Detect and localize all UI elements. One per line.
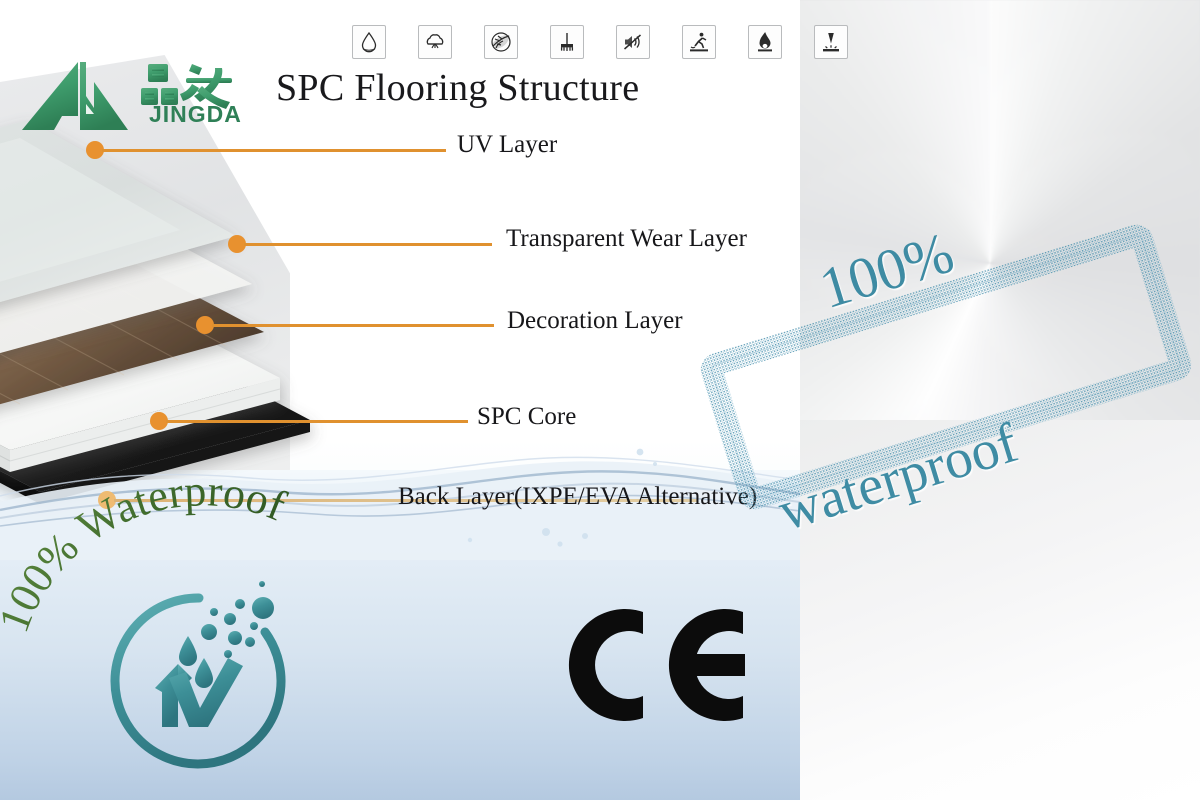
ce-letter-c-icon: [569, 609, 643, 721]
leader-line-core: [150, 410, 468, 432]
leader-stroke-decoration: [212, 324, 494, 327]
leader-stroke-uv: [102, 149, 446, 152]
page-title: SPC Flooring Structure: [276, 66, 639, 110]
brand-name-en-icon: JINGDA: [149, 101, 242, 127]
cotton-soft-icon: [418, 25, 452, 59]
badge-droplet-icon-2: [195, 658, 213, 688]
layer-label-wear: Transparent Wear Layer: [506, 225, 747, 253]
leader-line-decoration: [196, 314, 494, 336]
feature-icon-row: [352, 25, 848, 59]
waterproof-badge: 100% Waterproof: [14, 540, 394, 790]
poster-canvas: UV Layer Transparent Wear Layer Decorati…: [0, 0, 1200, 800]
badge-arrow-icon: [155, 664, 178, 727]
mute-sound-icon: [616, 25, 650, 59]
badge-droplet-icon-1: [179, 636, 197, 666]
anti-slip-icon: [682, 25, 716, 59]
leader-stroke-core: [166, 420, 468, 423]
leader-line-wear: [228, 233, 492, 255]
mountain-logo-icon: [22, 62, 128, 130]
badge-bubbles-icon: [201, 581, 274, 658]
leader-stroke-wear: [244, 243, 492, 246]
leaf-eco-icon: [484, 25, 518, 59]
fire-resistant-icon: [748, 25, 782, 59]
brand-logo: JINGDA: [16, 52, 266, 144]
impact-resistant-icon: [814, 25, 848, 59]
ce-mark: [565, 600, 750, 730]
water-drop-icon: [352, 25, 386, 59]
broom-easy-clean-icon: [550, 25, 584, 59]
layer-label-back: Back Layer(IXPE/EVA Alternative): [398, 483, 757, 511]
layer-label-uv: UV Layer: [457, 131, 557, 159]
layer-label-core: SPC Core: [477, 403, 576, 431]
layer-label-decoration: Decoration Layer: [507, 307, 683, 335]
